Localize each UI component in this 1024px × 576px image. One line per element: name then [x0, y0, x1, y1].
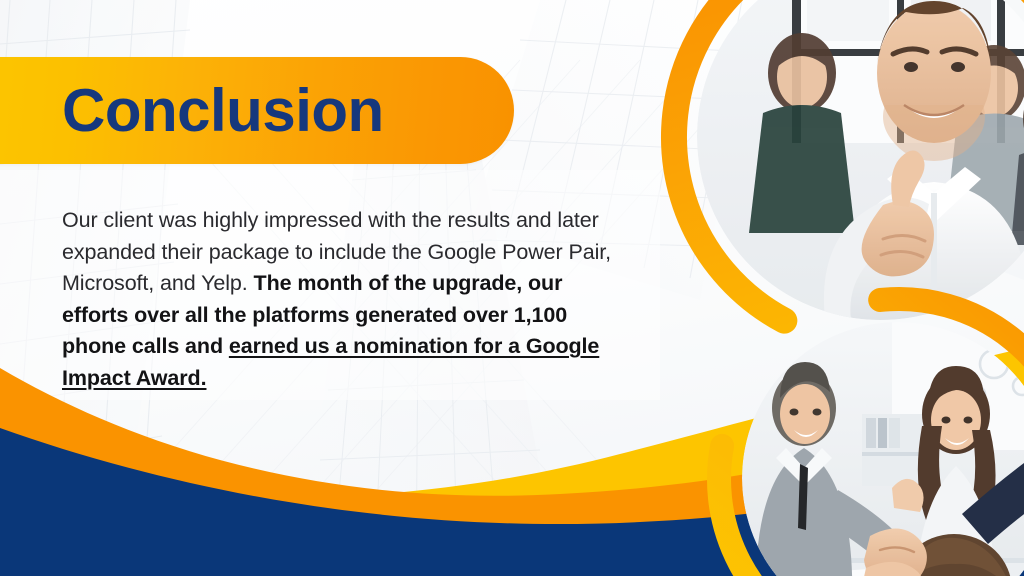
page-title: Conclusion: [62, 81, 384, 141]
title-banner: Conclusion: [0, 57, 514, 164]
slide-canvas: Conclusion Our client was highly impress…: [0, 0, 1024, 576]
thumbs-up-team-photo: [697, 0, 1024, 320]
